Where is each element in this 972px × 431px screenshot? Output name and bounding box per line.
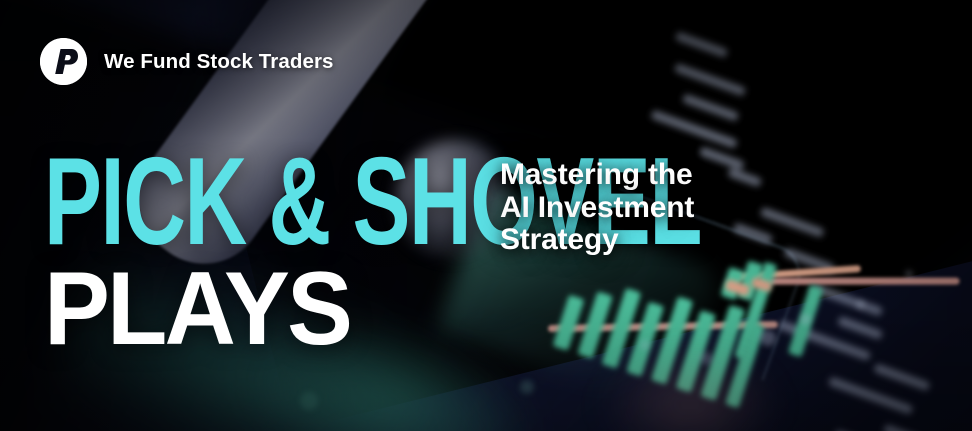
circular-p-logo-icon (40, 38, 87, 85)
subheadline-line-2: AI Investment (500, 192, 694, 225)
subheadline-line-1: Mastering the (500, 159, 694, 192)
headline-secondary: PLAYS (44, 266, 936, 353)
subheadline: Mastering the AI Investment Strategy (500, 159, 694, 257)
subheadline-line-3: Strategy (500, 224, 694, 257)
promotional-banner: We Fund Stock Traders PICK & SHOVEL PLAY… (0, 0, 972, 431)
brand-name-label: We Fund Stock Traders (104, 50, 334, 74)
brand-lockup: We Fund Stock Traders (40, 38, 334, 85)
banner-content: We Fund Stock Traders PICK & SHOVEL PLAY… (0, 0, 972, 431)
